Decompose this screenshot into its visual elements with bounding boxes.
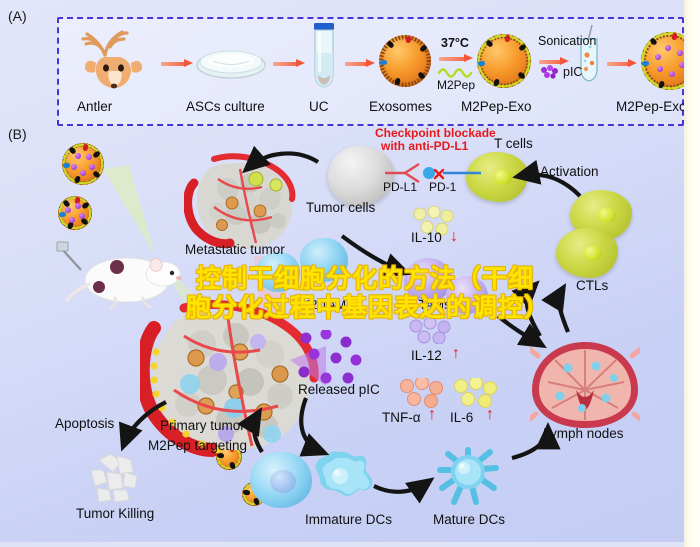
pic-cluster-icon bbox=[540, 65, 560, 79]
targeted-macrophage-icon bbox=[250, 452, 312, 508]
pic-annotation: pIC bbox=[563, 65, 582, 79]
tnf-alpha-up-arrow: ↑ bbox=[428, 406, 436, 424]
right-edge-strip bbox=[684, 0, 700, 547]
step-label-antler: Antler bbox=[77, 99, 112, 114]
step-label-asc-culture: ASCs culture bbox=[186, 99, 265, 114]
ctl-cell-icon-2 bbox=[556, 228, 618, 278]
activation-label: Activation bbox=[540, 164, 599, 179]
arrow-sonication-to-product bbox=[607, 59, 637, 68]
immature-dc-icon bbox=[310, 448, 380, 512]
panel-b-tag: (B) bbox=[8, 126, 27, 142]
petri-dish-icon bbox=[195, 47, 267, 81]
bottom-edge-strip bbox=[0, 542, 700, 547]
m2pep-annotation: M2Pep bbox=[437, 78, 475, 92]
primary-tumor-label: Primary tumor bbox=[160, 418, 245, 433]
arrow-exosome-to-m2pep bbox=[439, 54, 473, 63]
step-label-uc: UC bbox=[309, 99, 329, 114]
checkpoint-blockade-line1: Checkpoint blockade bbox=[375, 126, 496, 140]
il6-cytokine-dots bbox=[452, 378, 500, 408]
pd-l1-label: PD-L1 bbox=[383, 180, 417, 194]
pd-1-label: PD-1 bbox=[429, 180, 456, 194]
arrow-antler-to-culture bbox=[161, 59, 193, 68]
lymph-nodes-label: Lymph nodes bbox=[543, 426, 624, 441]
il12-up-arrow: ↑ bbox=[452, 345, 460, 363]
m2pep-targeting-label: M2Pep targeting bbox=[148, 438, 247, 453]
il12-label: IL-12 bbox=[411, 348, 442, 363]
tnf-alpha-label: TNF-α bbox=[382, 410, 421, 425]
temperature-annotation: 37°C bbox=[441, 36, 469, 50]
m2pep-squiggle-icon bbox=[438, 65, 478, 79]
mature-dcs-label: Mature DCs bbox=[433, 512, 505, 527]
panel-a-content: Antler ASCs culture bbox=[57, 17, 680, 122]
step-label-m2pep-exo: M2Pep-Exo bbox=[461, 99, 532, 114]
metastatic-tumor-icon bbox=[184, 153, 304, 255]
exosome-icon bbox=[379, 35, 431, 87]
il6-label: IL-6 bbox=[450, 410, 473, 425]
checkpoint-blockade-line2: with anti-PD-L1 bbox=[381, 139, 468, 153]
immature-dcs-label: Immature DCs bbox=[305, 512, 392, 527]
scientific-figure: (A) bbox=[0, 0, 700, 547]
arrow-uc-to-exosomes bbox=[345, 59, 375, 68]
il10-down-arrow: ↓ bbox=[450, 228, 458, 246]
il6-up-arrow: ↑ bbox=[486, 406, 494, 424]
il10-label: IL-10 bbox=[411, 230, 442, 245]
tnf-alpha-cytokine-dots bbox=[398, 378, 446, 408]
mature-dc-icon bbox=[428, 444, 508, 514]
tumor-killing-label: Tumor Killing bbox=[76, 506, 154, 521]
tumor-cells-label: Tumor cells bbox=[306, 200, 375, 215]
watermark-line-1: 控制干细胞分化的方法（干细 bbox=[196, 264, 534, 294]
apoptosis-label: Apoptosis bbox=[55, 416, 114, 431]
sonication-annotation: Sonication bbox=[538, 34, 596, 48]
mouse-icon bbox=[55, 240, 185, 310]
t-cells-label: T cells bbox=[494, 136, 533, 151]
watermark-line-2: 胞分化过程中基因表达的调控） bbox=[186, 293, 550, 323]
deer-icon bbox=[75, 25, 157, 93]
centrifuge-tube-icon bbox=[309, 23, 339, 89]
released-pic-label: Released pIC bbox=[298, 382, 380, 397]
apoptotic-cell-icon bbox=[83, 450, 147, 504]
metastatic-tumor-label: Metastatic tumor bbox=[185, 242, 285, 257]
ctls-label: CTLs bbox=[576, 278, 608, 293]
step-label-exosomes: Exosomes bbox=[369, 99, 432, 114]
free-exosome-icon-1 bbox=[62, 143, 104, 185]
free-exosome-icon-2 bbox=[58, 196, 92, 230]
released-pic-dots bbox=[296, 330, 368, 390]
exosome-peptide-icon bbox=[477, 34, 531, 88]
lymph-node-icon bbox=[530, 340, 640, 430]
panel-a-tag: (A) bbox=[8, 8, 27, 24]
arrow-culture-to-uc bbox=[273, 59, 305, 68]
